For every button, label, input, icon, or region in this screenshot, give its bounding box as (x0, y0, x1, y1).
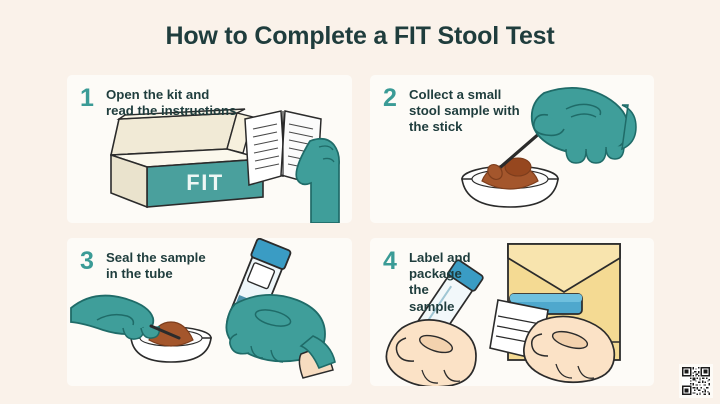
step-label-3: Seal the sample in the tube (106, 250, 206, 282)
step-label-2: Collect a small stool sample with the st… (409, 87, 520, 136)
step-header-3: 3 Seal the sample in the tube (80, 250, 206, 282)
step-header-2: 2 Collect a small stool sample with the … (383, 87, 520, 136)
step-number-4: 4 (383, 250, 400, 273)
svg-text:FIT: FIT (186, 170, 224, 195)
step-number-2: 2 (383, 87, 400, 110)
step-number-1: 1 (80, 87, 97, 110)
step-header-1: 1 Open the kit and read the instructions (80, 87, 236, 119)
qr-code[interactable] (679, 364, 713, 398)
step-card-2[interactable]: 2 Collect a small stool sample with the … (370, 75, 654, 223)
step-header-4: 4 Label and package the sample (383, 250, 471, 315)
page-title: How to Complete a FIT Stool Test (0, 22, 720, 51)
step-label-1: Open the kit and read the instructions (106, 87, 236, 119)
steps-grid: FIT (67, 75, 654, 390)
step-card-4[interactable]: 4 Label and package the sample (370, 238, 654, 386)
step-card-1[interactable]: FIT (67, 75, 352, 223)
step-label-4: Label and package the sample (409, 250, 471, 315)
qr-code-icon (682, 367, 710, 395)
step-card-3[interactable]: 3 Seal the sample in the tube (67, 238, 352, 386)
step-number-3: 3 (80, 250, 97, 273)
